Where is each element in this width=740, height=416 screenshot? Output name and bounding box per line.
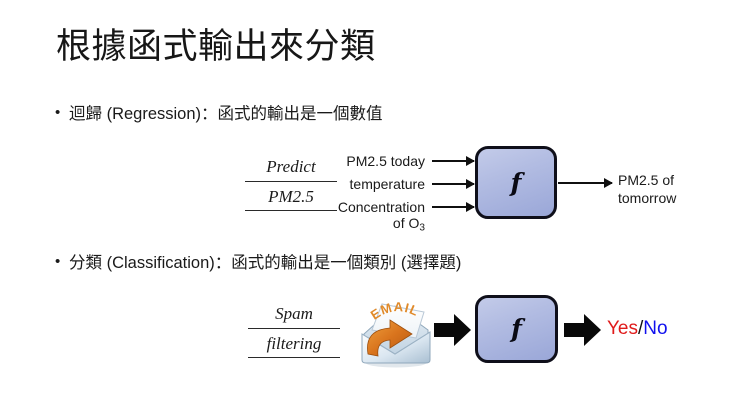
input-o3-text: of O <box>393 215 419 231</box>
output-no: No <box>643 318 667 339</box>
bullet-label-regression: 迴歸 (Regression)：函式的輸出是一個數值 <box>69 103 383 125</box>
output-line2: tomorrow <box>618 189 738 207</box>
output-label-classification: Yes/No <box>607 318 668 340</box>
input-arrow-2 <box>432 183 474 185</box>
input-o3-subscript: 3 <box>419 223 425 234</box>
function-glyph-classification: f <box>478 314 555 343</box>
slide-canvas: 根據函式輸出來分類 • 迴歸 (Regression)：函式的輸出是一個數值 P… <box>0 0 740 416</box>
function-glyph-regression: f <box>478 167 554 196</box>
input-label-concentration-o3: of O3 <box>250 214 425 235</box>
output-arrow-regression <box>558 182 612 184</box>
output-line1: PM2.5 of <box>618 171 738 189</box>
output-yes: Yes <box>607 318 638 339</box>
bullet-marker-icon: • <box>55 103 69 123</box>
page-title: 根據函式輸出來分類 <box>56 27 376 67</box>
bullet-item-regression: • 迴歸 (Regression)：函式的輸出是一個數值 <box>55 103 383 125</box>
task-label-spam-filtering: Spam filtering <box>248 302 340 361</box>
input-arrow-3 <box>432 206 474 208</box>
bullet-marker-icon: • <box>55 252 69 272</box>
output-label-regression: PM2.5 of tomorrow <box>618 171 738 208</box>
input-arrow-1 <box>432 160 474 162</box>
bullet-label-classification: 分類 (Classification)：函式的輸出是一個類別 (選擇題) <box>69 252 461 274</box>
function-box-classification: f <box>475 295 558 363</box>
input-label-pm25-today: PM2.5 today <box>250 152 425 170</box>
bullet-item-classification: • 分類 (Classification)：函式的輸出是一個類別 (選擇題) <box>55 252 461 274</box>
email-icon: EMAIL <box>352 290 438 370</box>
block-arrow-output-classification <box>564 313 602 347</box>
block-arrow-input-classification <box>434 313 472 347</box>
task-label-line2: filtering <box>248 332 340 359</box>
task-label-line1: Spam <box>248 302 340 329</box>
function-box-regression: f <box>475 146 557 219</box>
input-label-temperature: temperature <box>250 175 425 193</box>
